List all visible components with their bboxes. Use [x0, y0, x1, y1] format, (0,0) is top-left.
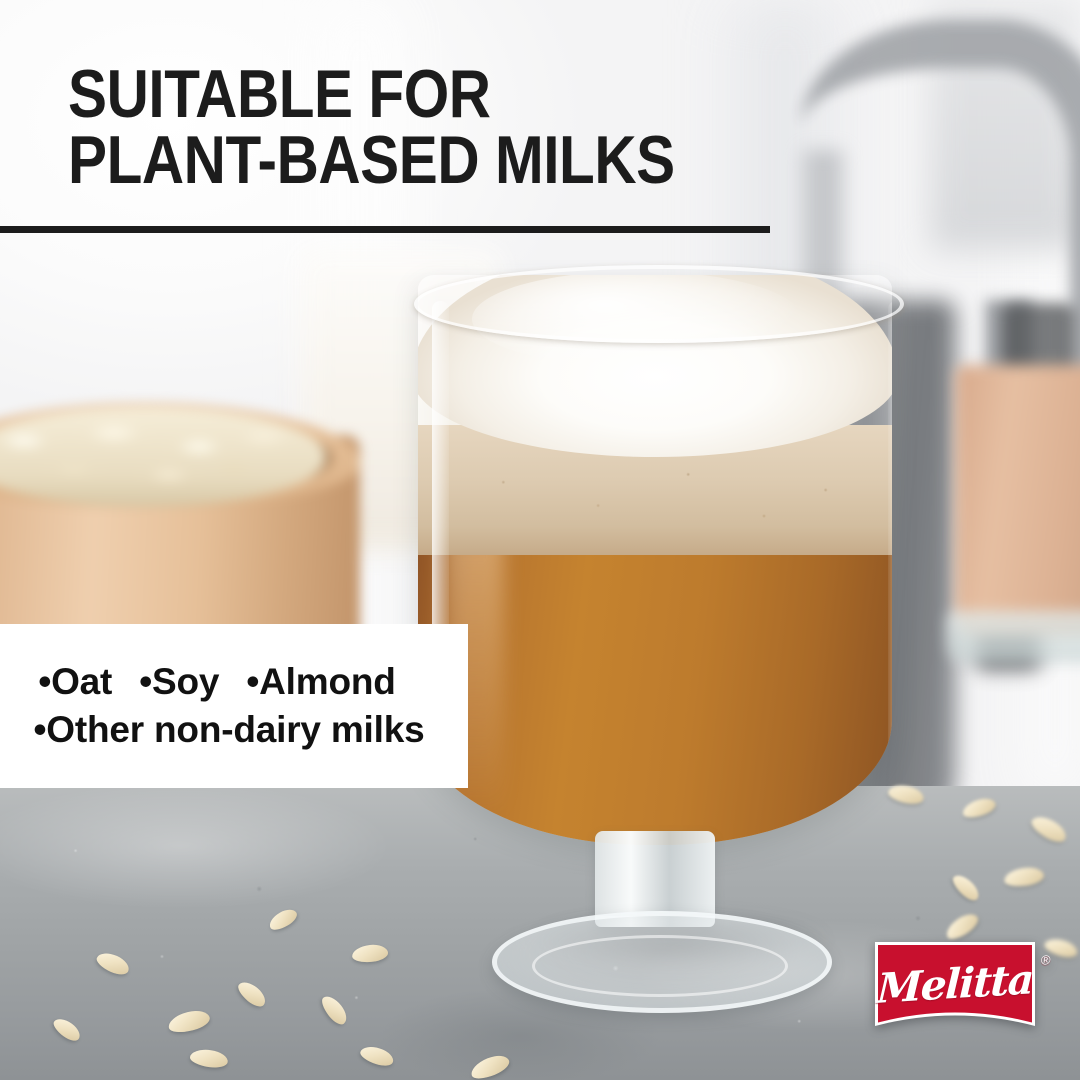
melitta-logo: Melitta ®	[874, 941, 1036, 1040]
list-item-label: Almond	[259, 661, 396, 702]
bullet-banner: •Oat •Soy •Almond •Other non-dairy milks	[0, 624, 468, 788]
headline-line-2: PLANT-BASED MILKS	[68, 128, 722, 194]
list-item: •Oat	[38, 658, 112, 706]
coffee-glass	[404, 275, 904, 975]
bullet-row-2: •Other non-dairy milks	[0, 706, 468, 754]
bullet-row-1: •Oat •Soy •Almond	[0, 658, 468, 706]
second-glass-body	[955, 365, 1080, 635]
headline: SUITABLE FOR PLANT-BASED MILKS	[68, 62, 722, 194]
list-item-label: Other non-dairy milks	[46, 709, 424, 750]
bullet-dot-icon: •	[38, 661, 51, 702]
glass-bowl	[418, 275, 892, 845]
logo-wordmark-text: Melitta	[876, 955, 1034, 1013]
bullet-dot-icon: •	[34, 709, 47, 750]
bullet-dot-icon: •	[139, 661, 152, 702]
glass-rim	[414, 265, 904, 343]
list-item: •Soy	[139, 658, 219, 706]
headline-line-1: SUITABLE FOR	[68, 56, 491, 132]
second-glass-base	[947, 611, 1080, 663]
registered-trademark-icon: ®	[1041, 952, 1051, 968]
list-item: •Other non-dairy milks	[34, 706, 425, 754]
list-item-label: Oat	[51, 661, 112, 702]
list-item-label: Soy	[152, 661, 219, 702]
bullet-list: •Oat •Soy •Almond •Other non-dairy milks	[0, 624, 468, 788]
second-coffee-glass	[955, 365, 1080, 635]
logo-wordmark: Melitta ®	[876, 955, 1034, 1013]
glass-highlight-right	[888, 301, 892, 841]
logo-wordmark-wrap: Melitta ®	[874, 941, 1036, 1040]
bullet-dot-icon: •	[246, 661, 259, 702]
list-item: •Almond	[246, 658, 395, 706]
headline-rule	[0, 226, 770, 233]
glass-foot-ring	[532, 935, 788, 997]
coffee-liquid	[418, 521, 892, 845]
ad-creative: SUITABLE FOR PLANT-BASED MILKS •Oat •Soy…	[0, 0, 1080, 1080]
